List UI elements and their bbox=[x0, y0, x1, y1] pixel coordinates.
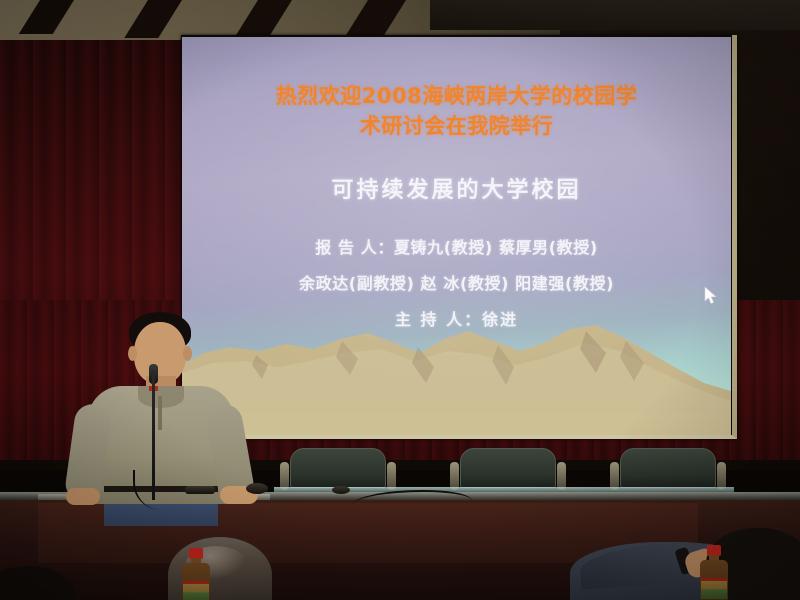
chair-back bbox=[460, 448, 556, 488]
speaker-hand-left bbox=[66, 488, 100, 505]
chair-arm bbox=[280, 462, 289, 490]
photo-scene: 热烈欢迎2008海峡两岸大学的校园学 术研讨会在我院举行 可持续发展的大学校园 … bbox=[0, 0, 800, 600]
audience-person-raised-arm bbox=[560, 528, 800, 600]
water-bottle bbox=[182, 548, 210, 600]
presentation-slide: 热烈欢迎2008海峡两岸大学的校园学 术研讨会在我院举行 可持续发展的大学校园 … bbox=[182, 37, 731, 435]
chair-arm bbox=[557, 462, 566, 490]
chair-arm bbox=[610, 462, 619, 490]
ceiling-beam bbox=[124, 0, 182, 38]
ceiling-right-dark bbox=[430, 0, 800, 30]
chair-back bbox=[620, 448, 716, 488]
speaker-placket bbox=[158, 396, 162, 430]
chair-arm bbox=[717, 462, 726, 490]
ceiling-beam bbox=[19, 0, 74, 34]
chair-back bbox=[290, 448, 386, 488]
bottle-label bbox=[701, 581, 727, 599]
slide-subtitle: 可持续发展的大学校园 bbox=[182, 172, 731, 204]
speaker-ear bbox=[183, 346, 192, 361]
slide-presenters-line-2: 余政达(副教授) 赵 冰(教授) 阳建强(教授) bbox=[182, 270, 731, 294]
speaker-ear bbox=[128, 346, 137, 361]
mouse-pointer-icon[interactable] bbox=[704, 286, 718, 306]
slide-title: 热烈欢迎2008海峡两岸大学的校园学 术研讨会在我院举行 bbox=[182, 81, 731, 142]
slide-title-line-1: 热烈欢迎2008海峡两岸大学的校园学 bbox=[204, 81, 709, 111]
slide-presenters-line-1: 报 告 人：夏铸九(教授) 蔡厚男(教授) bbox=[182, 234, 731, 258]
chair-arm bbox=[450, 462, 459, 490]
projection-screen: 热烈欢迎2008海峡两岸大学的校园学 术研讨会在我院举行 可持续发展的大学校园 … bbox=[181, 35, 737, 439]
chair-arm bbox=[387, 462, 396, 490]
speaker-head bbox=[134, 322, 186, 384]
slide-host-line: 主 持 人：徐进 bbox=[182, 306, 731, 330]
slide-text-block: 热烈欢迎2008海峡两岸大学的校园学 术研讨会在我院举行 可持续发展的大学校园 … bbox=[182, 37, 731, 435]
bottle-label bbox=[183, 584, 209, 600]
water-bottle bbox=[700, 545, 728, 600]
desk-item bbox=[246, 483, 268, 494]
slide-title-line-2: 术研讨会在我院举行 bbox=[204, 111, 709, 141]
desk-item bbox=[185, 486, 215, 494]
desk-item bbox=[332, 486, 350, 494]
